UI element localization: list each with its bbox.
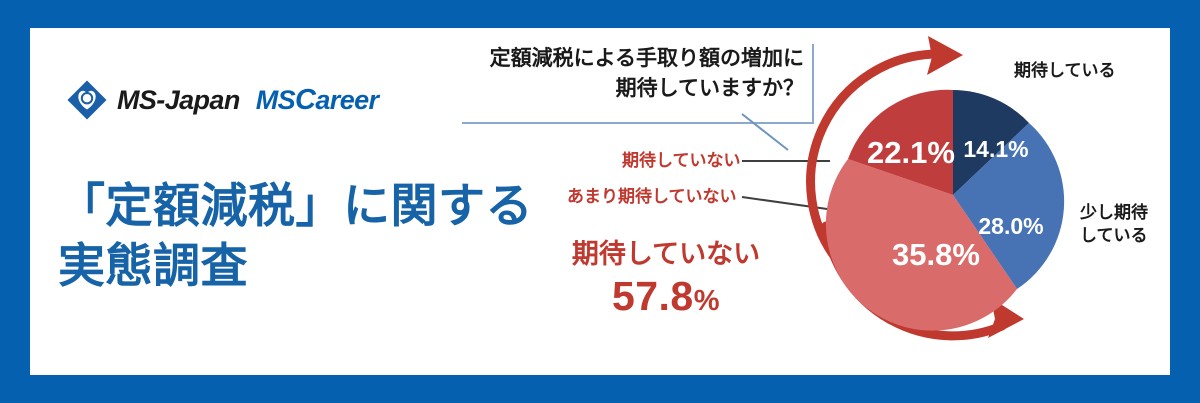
pie-value-expect: 14.1% <box>963 136 1028 162</box>
legend-label-expect: 期待している <box>1014 60 1116 83</box>
brand-logo: MS-Japan MSCareer <box>66 79 378 121</box>
infographic-root: MS-Japan MSCareer 「定額減税」に関する 実態調査 定額減税によ… <box>0 0 1200 403</box>
bubble-tail-icon <box>740 112 790 152</box>
summary-callout: 期待していない 57.8% <box>556 240 776 322</box>
callout-label-little-expectation: あまり期待していない <box>567 188 737 205</box>
legend-label-somewhat-expect: 少し期待 している <box>1080 202 1148 248</box>
page-title: 「定額減税」に関する 実態調査 <box>58 176 533 296</box>
pie-value-no-expect: 22.1% <box>867 135 955 170</box>
ms-japan-diamond-logo-icon <box>66 79 108 121</box>
logo-text-ms-japan: MS-Japan <box>117 87 240 114</box>
callout-label-no-expectation: 期待していない <box>622 152 741 169</box>
question-text: 定額減税による手取り額の増加に 期待していますか？ <box>490 44 804 104</box>
logo-text-mscareer: MSCareer <box>256 86 379 115</box>
summary-label: 期待していない <box>556 240 776 268</box>
pie-value-somewhat-expect: 28.0% <box>978 213 1043 239</box>
summary-percentage: 57.8% <box>556 272 776 321</box>
pie-value-little-expect: 35.8% <box>892 237 980 272</box>
